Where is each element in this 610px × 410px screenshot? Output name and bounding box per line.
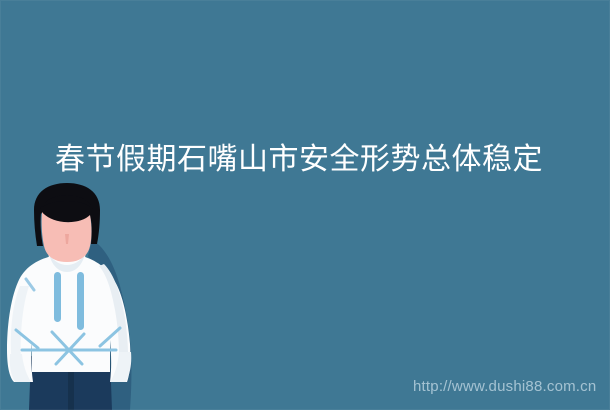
page-title: 春节假期石嘴山市安全形势总体稳定 (55, 142, 585, 178)
drawstring-left (54, 272, 61, 322)
person-illustration (0, 182, 145, 410)
drawstring-right (77, 272, 84, 330)
watermark-url: http://www.dushi88.com.cn (413, 378, 596, 396)
person-illustration-svg (0, 182, 145, 410)
image-canvas: 春节假期石嘴山市安全形势总体稳定 http://www.dushi88.com.… (0, 0, 610, 410)
